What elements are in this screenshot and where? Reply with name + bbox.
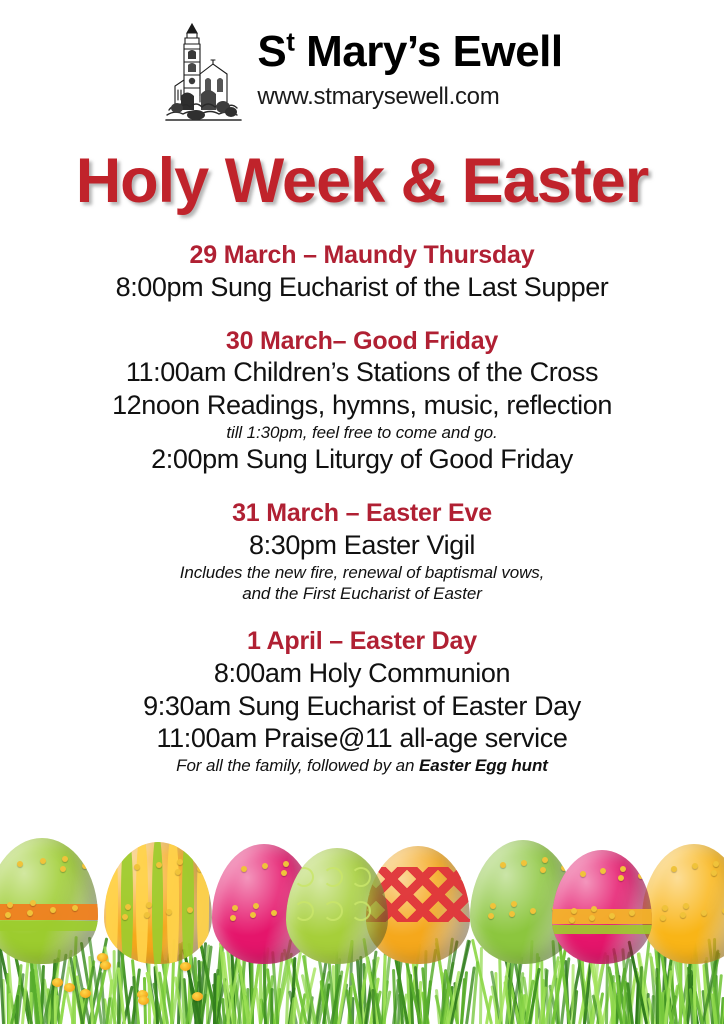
- section-date-heading: 31 March – Easter Eve: [0, 498, 724, 529]
- lime-swirl-egg: [286, 848, 388, 964]
- poster-canvas: St Mary’s Ewell www.stmarysewell.com Hol…: [0, 0, 724, 1024]
- green-egg-orange-band: [0, 838, 98, 964]
- service-line: 8:00pm Sung Eucharist of the Last Supper: [0, 271, 724, 304]
- church-line-drawing-icon: [161, 22, 247, 126]
- service-line: 11:00am Praise@11 all-age service: [0, 722, 724, 755]
- schedule-section-maundy-thursday: 29 March – Maundy Thursday 8:00pm Sung E…: [0, 240, 724, 303]
- website-url: www.stmarysewell.com: [257, 85, 499, 109]
- section-date-heading: 1 April – Easter Day: [0, 626, 724, 657]
- service-note: and the First Eucharist of Easter: [0, 583, 724, 604]
- yellow-flower: [138, 996, 149, 1005]
- orange-striped-egg: [104, 842, 212, 964]
- service-note: Includes the new fire, renewal of baptis…: [0, 562, 724, 583]
- grass-blade: [270, 988, 274, 1024]
- logo-wordmark: St Mary’s Ewell www.stmarysewell.com: [257, 22, 562, 109]
- egg-row: [0, 834, 724, 964]
- easter-eggs-photo: [0, 834, 724, 1024]
- yellow-dotted-egg: [642, 844, 724, 964]
- schedule-section-easter-day: 1 April – Easter Day 8:00am Holy Communi…: [0, 626, 724, 777]
- grass-blade: [479, 947, 483, 1024]
- yellow-flower: [52, 978, 63, 987]
- yellow-flower: [192, 992, 203, 1001]
- section-date-heading: 29 March – Maundy Thursday: [0, 240, 724, 271]
- section-date-heading: 30 March– Good Friday: [0, 326, 724, 357]
- service-line: 11:00am Children’s Stations of the Cross: [0, 356, 724, 389]
- brand-name: St Mary’s Ewell: [257, 30, 562, 74]
- brand-rest: Mary’s Ewell: [294, 27, 562, 76]
- grass-blade: [651, 995, 655, 1024]
- grass-blade: [520, 993, 523, 1024]
- service-note-rich: For all the family, followed by an Easte…: [0, 755, 724, 776]
- magenta-banded-egg: [552, 850, 652, 964]
- service-line: 8:00am Holy Communion: [0, 657, 724, 690]
- service-line: 8:30pm Easter Vigil: [0, 529, 724, 562]
- service-line: 9:30am Sung Eucharist of Easter Day: [0, 690, 724, 723]
- schedule-section-good-friday: 30 March– Good Friday 11:00am Children’s…: [0, 326, 724, 477]
- grass-blade: [213, 973, 217, 1024]
- note-emphasis: Easter Egg hunt: [419, 756, 548, 775]
- page-title: Holy Week & Easter: [0, 148, 724, 214]
- service-note: till 1:30pm, feel free to come and go.: [0, 422, 724, 443]
- schedule-section-easter-eve: 31 March – Easter Eve 8:30pm Easter Vigi…: [0, 498, 724, 604]
- grass-blade: [655, 968, 659, 1024]
- site-logo: St Mary’s Ewell www.stmarysewell.com: [0, 0, 724, 126]
- brand-prefix: S: [257, 27, 286, 76]
- service-schedule: 29 March – Maundy Thursday 8:00pm Sung E…: [0, 240, 724, 777]
- service-line: 12noon Readings, hymns, music, reflectio…: [0, 389, 724, 422]
- note-text: For all the family, followed by an: [176, 756, 419, 775]
- service-line: 2:00pm Sung Liturgy of Good Friday: [0, 443, 724, 476]
